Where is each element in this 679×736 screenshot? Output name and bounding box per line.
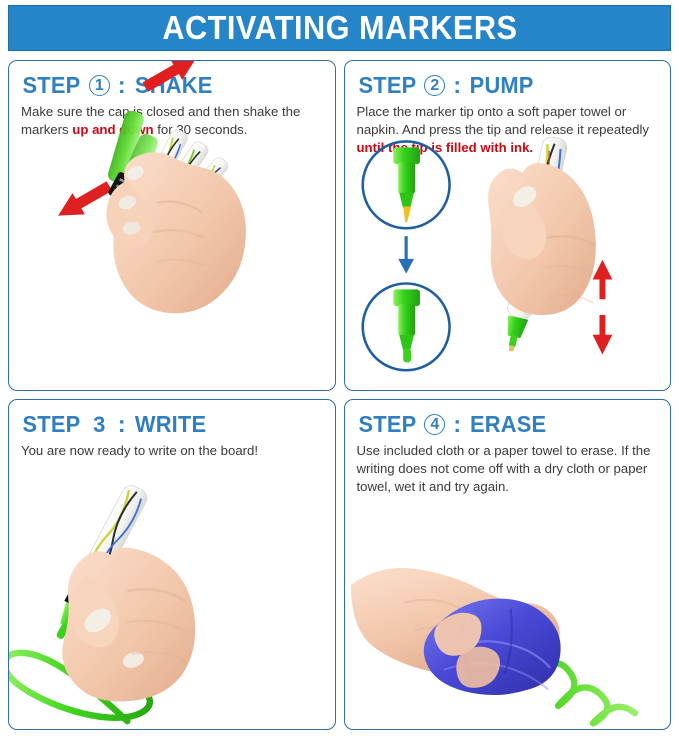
red-arrow-down — [52, 175, 116, 226]
step-3-colon: : — [118, 411, 126, 438]
ink-yellow-tip — [403, 207, 411, 223]
step-1-text-b: for 30 seconds. — [154, 122, 248, 137]
step-2-title: PUMP — [470, 72, 534, 99]
red-double-arrow-vertical — [592, 260, 612, 355]
step-3-number: 3 — [89, 414, 110, 435]
green-written-loop — [9, 608, 150, 721]
fingernail — [508, 182, 539, 211]
marker-writing — [48, 482, 150, 644]
step-3-body: You are now ready to write on the board! — [21, 442, 323, 460]
step-2-number: 2 — [424, 75, 445, 96]
step-3-step-word: STEP — [23, 411, 81, 438]
step-3-title: WRITE — [135, 411, 206, 438]
hand-pumping-marker — [488, 163, 596, 315]
step-4-step-word: STEP — [358, 411, 416, 438]
green-squiggle — [538, 663, 635, 723]
step-panel-4: STEP 4 : ERASE Use included cloth or a p… — [344, 399, 672, 730]
step-2-colon: : — [453, 72, 461, 99]
marker-label-band — [107, 171, 159, 215]
blue-microfiber-cloth — [423, 599, 560, 695]
step-1-colon: : — [118, 72, 126, 99]
step-2-heading: STEP 2 : PUMP — [357, 72, 671, 99]
step-panel-3: STEP 3 : WRITE You are now ready to writ… — [8, 399, 336, 730]
step-1-step-word: STEP — [23, 72, 81, 99]
step-2-text-a: Place the marker tip onto a soft paper t… — [357, 104, 650, 137]
step-1-text-emphasis: up and down — [72, 122, 153, 137]
step-1-body: Make sure the cap is closed and then sha… — [21, 103, 323, 139]
step-3-heading: STEP 3 : WRITE — [21, 411, 335, 438]
step-4-text: Use included cloth or a paper towel to e… — [357, 443, 651, 494]
diagram-circle-filled-tip — [362, 283, 449, 370]
hand-holding-cloth — [350, 568, 559, 676]
header-bar: ACTIVATING MARKERS — [8, 5, 671, 51]
infographic-page: ACTIVATING MARKERS STEP 1 : SHAKE Make s… — [0, 0, 679, 736]
step-2-text-emphasis: until the tip is filled with ink. — [357, 140, 534, 155]
step-1-heading: STEP 1 : SHAKE — [21, 72, 335, 99]
hand-holding-markers — [107, 152, 246, 313]
step-4-title: ERASE — [470, 411, 546, 438]
marker-brand-text: POPMAK — [516, 234, 538, 283]
step-panel-2: STEP 2 : PUMP Place the marker tip onto … — [344, 60, 672, 391]
step-panel-1: STEP 1 : SHAKE Make sure the cap is clos… — [8, 60, 336, 391]
blue-down-arrow — [398, 236, 414, 273]
step-2-body: Place the marker tip onto a soft paper t… — [357, 103, 659, 158]
fingernail — [80, 604, 116, 637]
step-4-body: Use included cloth or a paper towel to e… — [357, 442, 659, 497]
step-1-title: SHAKE — [135, 72, 212, 99]
steps-grid: STEP 1 : SHAKE Make sure the cap is clos… — [8, 60, 671, 730]
page-title: ACTIVATING MARKERS — [162, 9, 517, 47]
step-1-number: 1 — [89, 75, 110, 96]
step-2-step-word: STEP — [358, 72, 416, 99]
step-4-colon: : — [453, 411, 461, 438]
step-3-text: You are now ready to write on the board! — [21, 443, 258, 458]
step-4-heading: STEP 4 : ERASE — [357, 411, 671, 438]
markers-up — [135, 128, 230, 223]
fingernail — [121, 650, 146, 671]
step-4-number: 4 — [424, 414, 445, 435]
hand-writing — [62, 548, 195, 702]
marker-brand-label: POPMAK — [512, 220, 550, 289]
marker-in-hand: POPMAK — [488, 136, 596, 354]
